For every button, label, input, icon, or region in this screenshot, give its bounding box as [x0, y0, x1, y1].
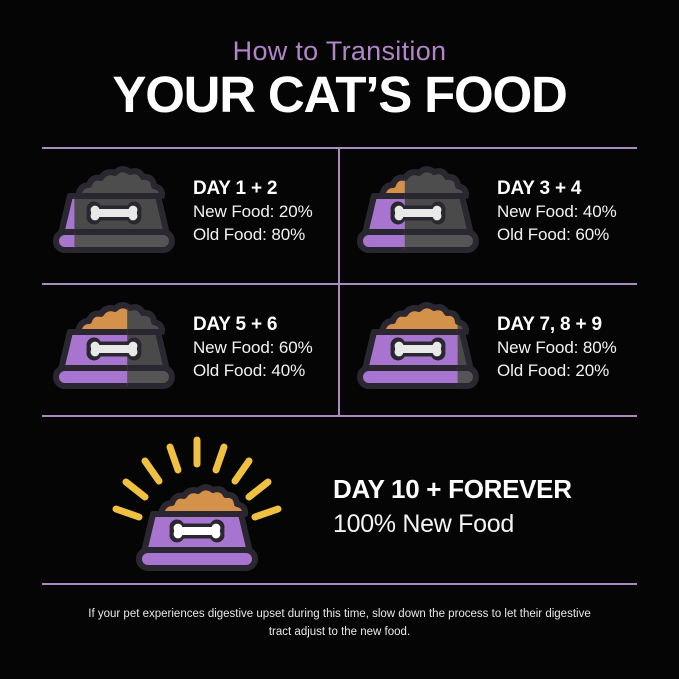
footer-note: If your pet experiences digestive upset … — [78, 606, 601, 642]
step-new-food-ratio: New Food: 80% — [497, 337, 617, 360]
step-card-1: DAY 1 + 2 New Food: 20% Old Food: 80% — [48, 166, 313, 258]
step-old-food-ratio: Old Food: 60% — [497, 224, 617, 247]
kicker-text: How to Transition — [0, 36, 679, 67]
step-old-food-ratio: Old Food: 20% — [497, 360, 617, 383]
step-new-food-ratio: New Food: 40% — [497, 201, 617, 224]
step-card-2: DAY 3 + 4 New Food: 40% Old Food: 60% — [352, 166, 617, 258]
food-bowl-icon — [352, 166, 484, 258]
step-day-label: DAY 5 + 6 — [193, 313, 313, 337]
step-day-label: DAY 1 + 2 — [193, 177, 313, 201]
hero-subtitle: 100% New Food — [333, 508, 572, 541]
food-bowl-icon — [48, 166, 180, 258]
step-old-food-ratio: Old Food: 40% — [193, 360, 313, 383]
page-title: YOUR CAT’S FOOD — [0, 68, 679, 122]
food-bowl-celebration-icon — [112, 432, 282, 585]
step-day-label: DAY 7, 8 + 9 — [497, 313, 617, 337]
hero-step-card: DAY 10 + FOREVER 100% New Food — [0, 432, 679, 580]
divider-vertical — [338, 148, 340, 416]
step-new-food-ratio: New Food: 60% — [193, 337, 313, 360]
step-old-food-ratio: Old Food: 80% — [193, 224, 313, 247]
infographic-root: How to Transition YOUR CAT’S FOOD — [0, 0, 679, 679]
step-card-4: DAY 7, 8 + 9 New Food: 80% Old Food: 20% — [352, 302, 617, 394]
food-bowl-icon — [352, 302, 484, 394]
step-card-3: DAY 5 + 6 New Food: 60% Old Food: 40% — [48, 302, 313, 394]
step-new-food-ratio: New Food: 20% — [193, 201, 313, 224]
food-bowl-icon — [48, 302, 180, 394]
hero-day-label: DAY 10 + FOREVER — [333, 474, 572, 506]
step-day-label: DAY 3 + 4 — [497, 177, 617, 201]
